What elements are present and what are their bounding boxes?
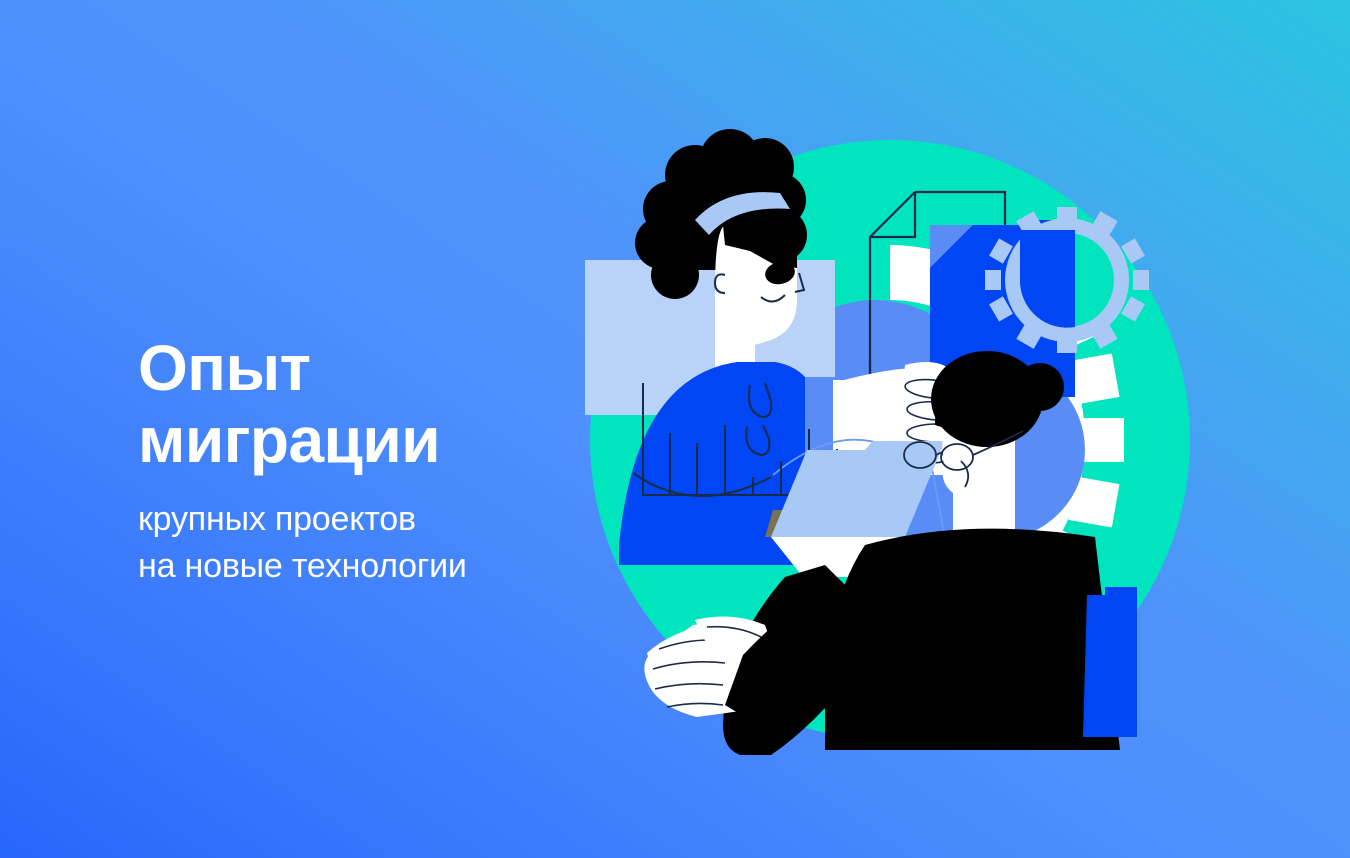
text-block: Опыт миграции крупных проектов на новые … bbox=[138, 332, 608, 590]
page-title: Опыт миграции bbox=[138, 332, 608, 476]
small-gear-hole bbox=[1020, 233, 1114, 327]
page-subtitle: крупных проектов на новые технологии bbox=[138, 496, 608, 590]
blue-badge bbox=[1083, 587, 1137, 737]
slide-canvas: Опыт миграции крупных проектов на новые … bbox=[0, 0, 1350, 858]
hero-illustration bbox=[575, 125, 1205, 755]
